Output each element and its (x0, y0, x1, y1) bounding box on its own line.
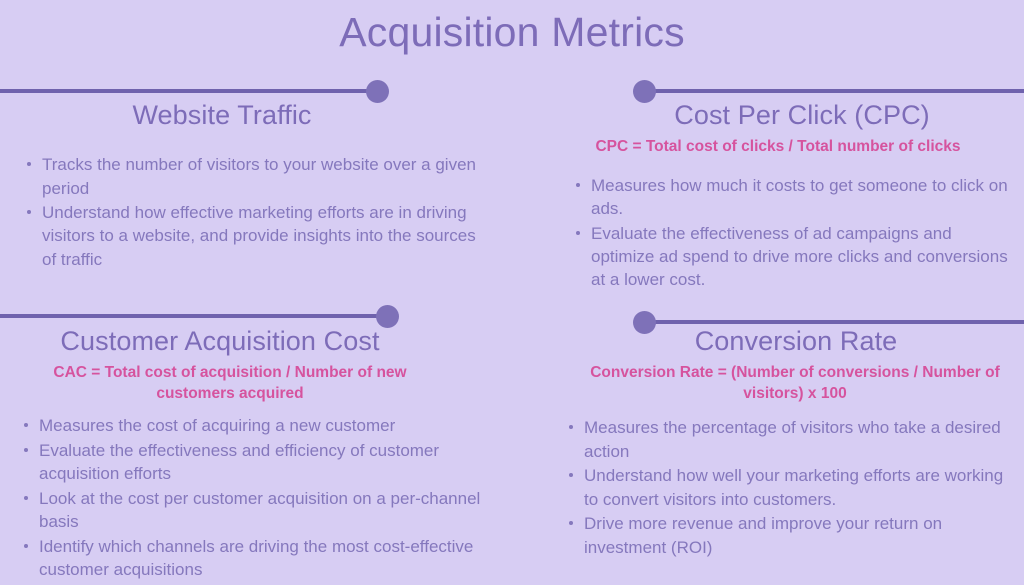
bullet-point-icon (569, 473, 573, 477)
list-item: Evaluate the effectiveness of ad campaig… (573, 222, 1019, 292)
section-heading-customer-acquisition-cost: Customer Acquisition Cost (0, 326, 500, 357)
list-item-text: Identify which channels are driving the … (39, 537, 473, 579)
list-item: Look at the cost per customer acquisitio… (21, 487, 487, 534)
list-item-text: Understand how effective marketing effor… (42, 203, 476, 269)
list-item-text: Tracks the number of visitors to your we… (42, 155, 476, 197)
node-dot-customer-acquisition-cost (376, 305, 399, 328)
bullet-list-customer-acquisition-cost: Measures the cost of acquiring a new cus… (21, 414, 487, 581)
connector-rail-cost-per-click (645, 89, 1024, 93)
list-item: Tracks the number of visitors to your we… (24, 153, 476, 200)
bullet-list-website-traffic: Tracks the number of visitors to your we… (24, 153, 476, 271)
list-item: Measures the percentage of visitors who … (566, 416, 1006, 463)
section-heading-conversion-rate: Conversion Rate (524, 326, 1024, 357)
formula-customer-acquisition-cost: CAC = Total cost of acquisition / Number… (0, 363, 500, 404)
list-item: Understand how effective marketing effor… (24, 201, 476, 271)
bullet-point-icon (569, 425, 573, 429)
bullet-point-icon (27, 210, 31, 214)
list-item-text: Understand how well your marketing effor… (584, 466, 1003, 508)
list-item: Measures how much it costs to get someon… (573, 174, 1019, 221)
list-item: Identify which channels are driving the … (21, 535, 487, 582)
section-website-traffic: Website Traffic Tracks the number of vis… (0, 100, 500, 272)
bullet-point-icon (569, 521, 573, 525)
connector-rail-customer-acquisition-cost (0, 314, 390, 318)
bullet-point-icon (576, 183, 580, 187)
list-item-text: Measures the percentage of visitors who … (584, 418, 1001, 460)
bullet-point-icon (24, 496, 28, 500)
list-item-text: Look at the cost per customer acquisitio… (39, 489, 480, 531)
list-item-text: Evaluate the effectiveness of ad campaig… (591, 224, 1008, 290)
section-conversion-rate: Conversion Rate Conversion Rate = (Numbe… (524, 326, 1024, 560)
list-item-text: Drive more revenue and improve your retu… (584, 514, 942, 556)
formula-conversion-rate: Conversion Rate = (Number of conversions… (524, 363, 1024, 404)
connector-rail-website-traffic (0, 89, 380, 93)
list-item: Drive more revenue and improve your retu… (566, 512, 1006, 559)
list-item-text: Measures how much it costs to get someon… (591, 176, 1008, 218)
bullet-point-icon (24, 423, 28, 427)
section-heading-cost-per-click: Cost Per Click (CPC) (524, 100, 1024, 131)
section-heading-website-traffic: Website Traffic (0, 100, 500, 131)
list-item-text: Evaluate the effectiveness and efficienc… (39, 441, 439, 483)
bullet-point-icon (24, 448, 28, 452)
bullet-list-conversion-rate: Measures the percentage of visitors who … (566, 416, 1006, 559)
list-item: Understand how well your marketing effor… (566, 464, 1006, 511)
bullet-point-icon (24, 544, 28, 548)
list-item: Evaluate the effectiveness and efficienc… (21, 439, 487, 486)
section-customer-acquisition-cost: Customer Acquisition Cost CAC = Total co… (0, 326, 500, 582)
bullet-point-icon (576, 231, 580, 235)
bullet-list-cost-per-click: Measures how much it costs to get someon… (573, 174, 1019, 292)
section-cost-per-click: Cost Per Click (CPC) CPC = Total cost of… (524, 100, 1024, 293)
acquisition-metrics-infographic: Acquisition Metrics Website Traffic Trac… (0, 0, 1024, 585)
page-title: Acquisition Metrics (0, 8, 1024, 57)
bullet-point-icon (27, 162, 31, 166)
formula-cost-per-click: CPC = Total cost of clicks / Total numbe… (524, 137, 1024, 158)
list-item: Measures the cost of acquiring a new cus… (21, 414, 487, 437)
connector-rail-conversion-rate (645, 320, 1024, 324)
list-item-text: Measures the cost of acquiring a new cus… (39, 416, 395, 435)
